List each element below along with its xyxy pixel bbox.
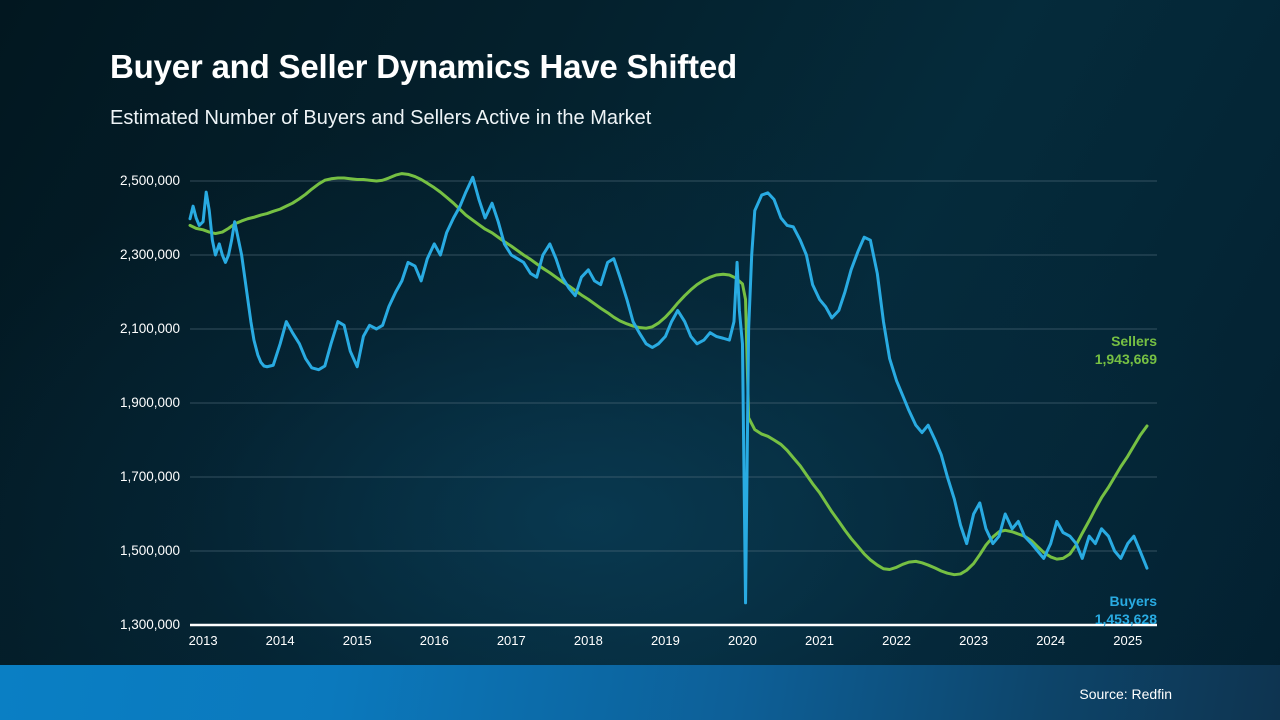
x-axis-tick: 2018 (548, 633, 628, 648)
x-axis-tick: 2013 (163, 633, 243, 648)
x-axis-tick: 2023 (934, 633, 1014, 648)
y-axis-tick: 2,300,000 (82, 247, 180, 262)
series-label-buyers: Buyers 1,453,628 (997, 592, 1157, 628)
y-axis-tick: 2,500,000 (82, 173, 180, 188)
series-label-sellers-value: 1,943,669 (997, 350, 1157, 368)
x-axis-tick: 2017 (471, 633, 551, 648)
y-axis-tick: 1,300,000 (82, 617, 180, 632)
x-axis-tick: 2016 (394, 633, 474, 648)
series-label-sellers: Sellers 1,943,669 (997, 332, 1157, 368)
source-attribution: Source: Redfin (1079, 686, 1172, 702)
series-label-buyers-name: Buyers (997, 592, 1157, 610)
x-axis-tick: 2014 (240, 633, 320, 648)
series-label-buyers-value: 1,453,628 (997, 610, 1157, 628)
y-axis-tick: 1,900,000 (82, 395, 180, 410)
series-line-buyers (190, 177, 1147, 603)
x-axis-tick: 2020 (702, 633, 782, 648)
series-label-sellers-name: Sellers (997, 332, 1157, 350)
series-line-sellers (190, 174, 1147, 575)
x-axis-tick: 2015 (317, 633, 397, 648)
x-axis-tick: 2019 (625, 633, 705, 648)
chart-series-group (190, 174, 1147, 603)
x-axis-tick: 2024 (1011, 633, 1091, 648)
x-axis-tick: 2022 (857, 633, 937, 648)
y-axis-tick: 1,700,000 (82, 469, 180, 484)
x-axis-tick: 2025 (1088, 633, 1168, 648)
y-axis-tick: 1,500,000 (82, 543, 180, 558)
slide-canvas: Buyer and Seller Dynamics Have Shifted E… (0, 0, 1280, 720)
y-axis-tick: 2,100,000 (82, 321, 180, 336)
x-axis-tick: 2021 (780, 633, 860, 648)
